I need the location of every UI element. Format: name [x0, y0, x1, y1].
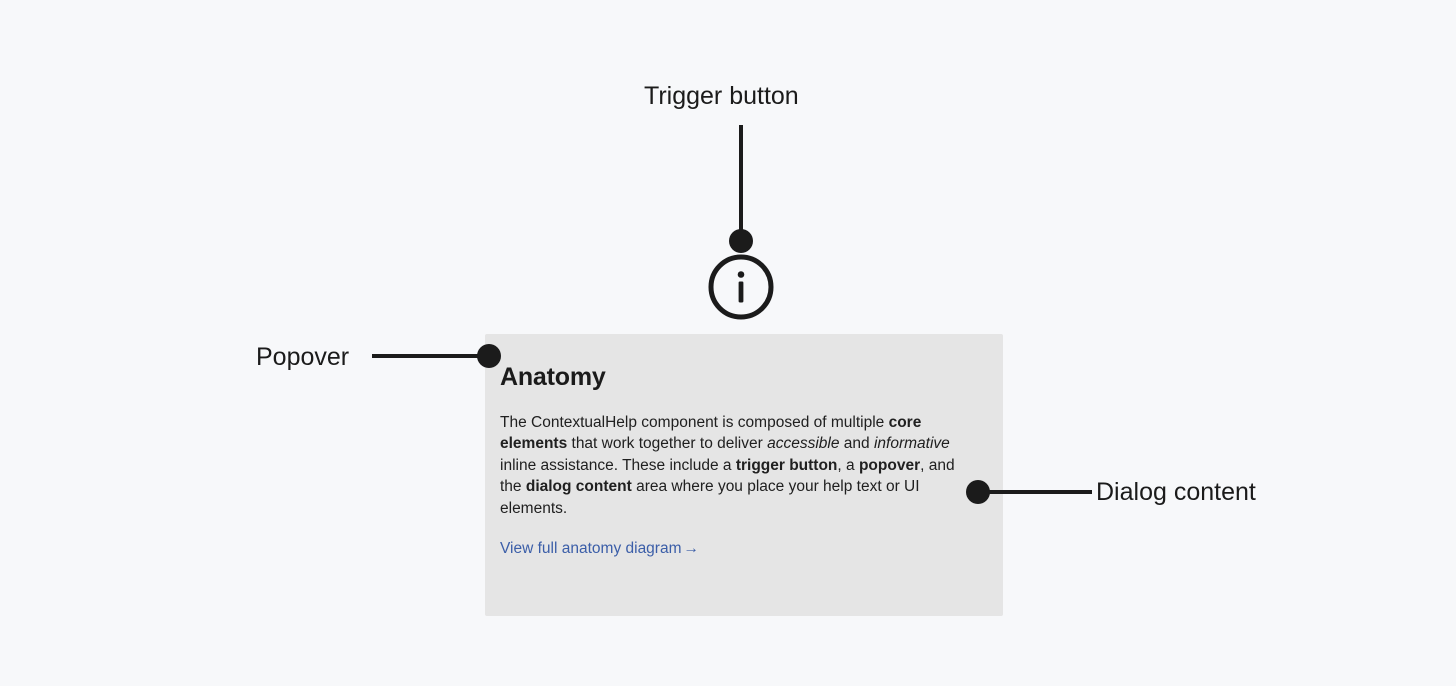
body-segment-italic: accessible	[767, 435, 839, 452]
body-segment: inline assistance. These include a	[500, 457, 736, 474]
annotation-label-dialog-content: Dialog content	[1096, 480, 1256, 505]
link-label: View full anatomy diagram	[500, 540, 682, 557]
annotation-label-popover: Popover	[256, 345, 349, 370]
info-circle-icon	[708, 254, 774, 320]
popover-content: Anatomy The ContextualHelp component is …	[500, 364, 975, 560]
body-segment: and	[839, 435, 873, 452]
arrow-right-icon: →	[682, 540, 700, 557]
popover-card: Anatomy The ContextualHelp component is …	[485, 334, 1003, 616]
anatomy-diagram-canvas: Trigger button Popover Anatomy The Conte…	[0, 0, 1456, 686]
leader-dot-trigger-button	[729, 229, 753, 253]
body-segment-italic: informative	[874, 435, 950, 452]
view-full-anatomy-diagram-link[interactable]: View full anatomy diagram→	[500, 539, 699, 559]
body-segment: , a	[837, 457, 859, 474]
leader-line-trigger-button	[739, 125, 743, 243]
body-segment: that work together to deliver	[567, 435, 767, 452]
leader-line-popover	[372, 354, 490, 358]
body-segment-bold: popover	[859, 457, 920, 474]
leader-line-dialog-content	[976, 490, 1092, 494]
body-segment: The ContextualHelp component is composed…	[500, 414, 889, 431]
body-segment-bold: trigger button	[736, 457, 838, 474]
body-segment-bold: dialog content	[526, 478, 632, 495]
info-circle-icon-button[interactable]	[708, 254, 774, 320]
leader-dot-popover	[477, 344, 501, 368]
annotation-label-trigger-button: Trigger button	[644, 84, 799, 109]
popover-body-text: The ContextualHelp component is composed…	[500, 412, 975, 520]
popover-title: Anatomy	[500, 364, 975, 392]
